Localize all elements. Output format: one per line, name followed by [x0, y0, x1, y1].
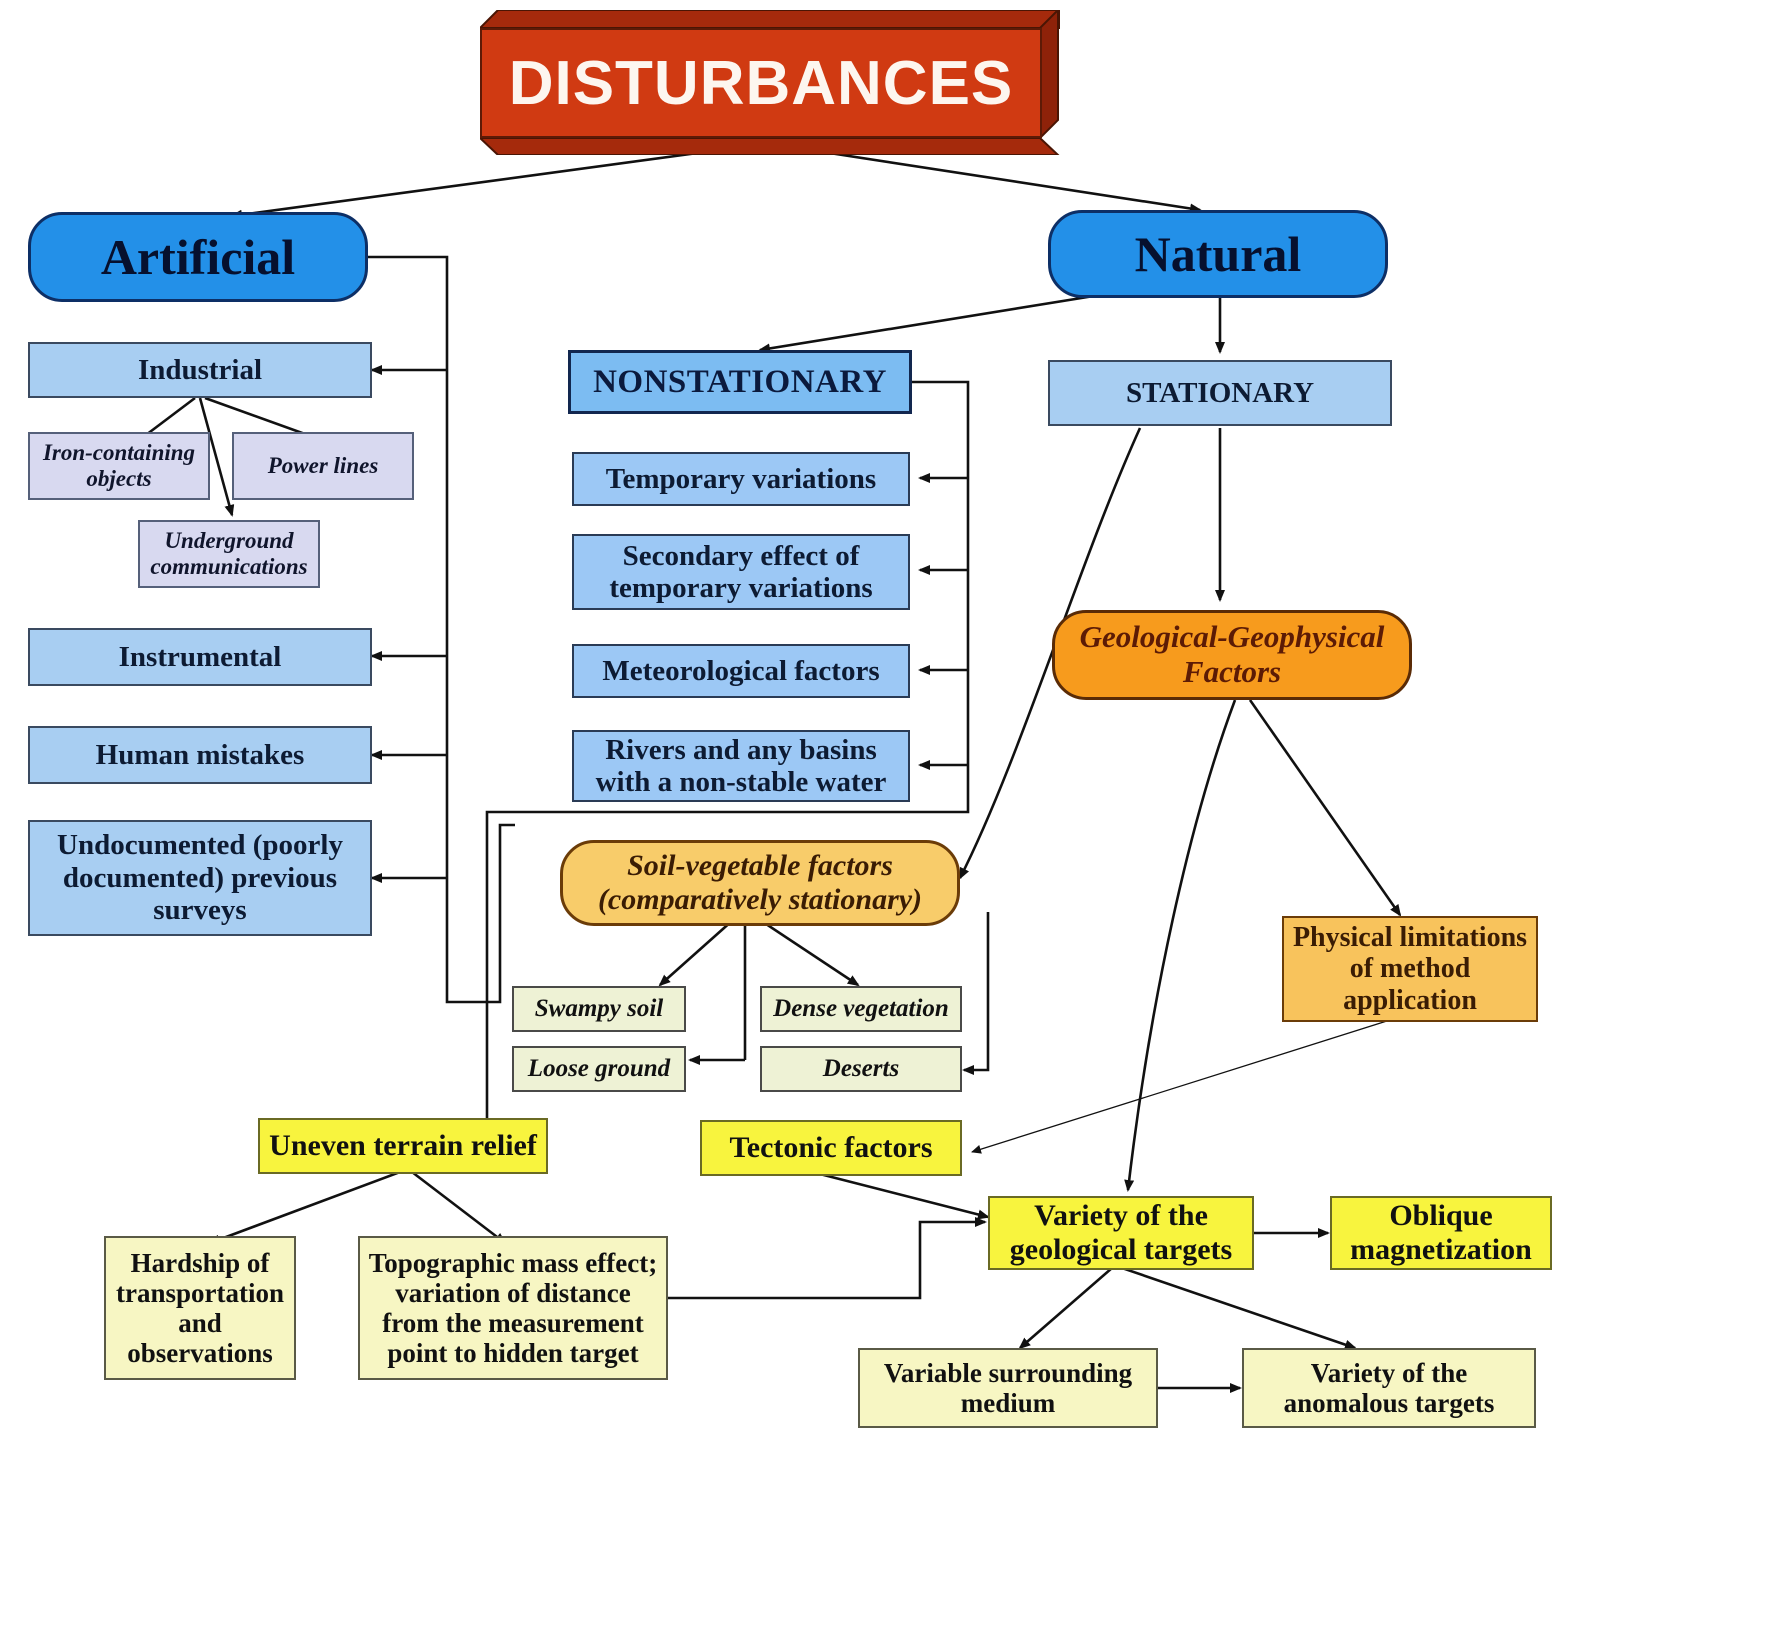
node-geological-geophysical-factors[interactable]: Geological-Geophysical Factors: [1052, 610, 1412, 700]
link-geological-targets: [1128, 700, 1235, 1190]
link-soil-deserts: [964, 912, 988, 1070]
node-topographic-mass-effect[interactable]: Topographic mass effect; variation of di…: [358, 1236, 668, 1380]
node-variety-anomalous-targets[interactable]: Variety of the anomalous targets: [1242, 1348, 1536, 1428]
link-targets-medium: [1020, 1268, 1112, 1348]
node-tectonic-factors[interactable]: Tectonic factors: [700, 1120, 962, 1176]
node-oblique-magnetization[interactable]: Oblique magnetization: [1330, 1196, 1552, 1270]
node-nonstationary[interactable]: NONSTATIONARY: [568, 350, 912, 414]
root-title-label: DISTURBANCES: [509, 48, 1014, 119]
root-title-box: DISTURBANCES: [480, 10, 1060, 140]
node-industrial[interactable]: Industrial: [28, 342, 372, 398]
diagram-canvas: DISTURBANCES Artificial Natural Industri…: [0, 0, 1783, 1632]
node-natural[interactable]: Natural: [1048, 210, 1388, 298]
node-uneven-terrain-relief[interactable]: Uneven terrain relief: [258, 1118, 548, 1174]
node-power-lines[interactable]: Power lines: [232, 432, 414, 500]
node-meteorological-factors[interactable]: Meteorological factors: [572, 644, 910, 698]
node-loose-ground[interactable]: Loose ground: [512, 1046, 686, 1092]
node-secondary-effect[interactable]: Secondary effect of temporary variations: [572, 534, 910, 610]
link-terrain-topographic: [412, 1172, 505, 1243]
node-iron-containing-objects[interactable]: Iron-containing objects: [28, 432, 210, 500]
node-variable-surrounding-medium[interactable]: Variable surrounding medium: [858, 1348, 1158, 1428]
node-artificial[interactable]: Artificial: [28, 212, 368, 302]
link-artificial-spine: [368, 257, 515, 1002]
node-deserts[interactable]: Deserts: [760, 1046, 962, 1092]
node-stationary[interactable]: STATIONARY: [1048, 360, 1392, 426]
link-topographic-targets: [668, 1222, 985, 1298]
node-swampy-soil[interactable]: Swampy soil: [512, 986, 686, 1032]
link-geological-physical: [1250, 700, 1400, 915]
link-tectonic-targets: [812, 1172, 988, 1217]
node-variety-geological-targets[interactable]: Variety of the geological targets: [988, 1196, 1254, 1270]
link-terrain-hardship: [210, 1172, 400, 1243]
node-human-mistakes[interactable]: Human mistakes: [28, 726, 372, 784]
node-instrumental[interactable]: Instrumental: [28, 628, 372, 686]
link-targets-anomalous: [1122, 1268, 1355, 1348]
link-root-natural: [810, 150, 1200, 210]
node-dense-vegetation[interactable]: Dense vegetation: [760, 986, 962, 1032]
node-rivers-basins[interactable]: Rivers and any basins with a non-stable …: [572, 730, 910, 802]
node-underground-communications[interactable]: Underground communications: [138, 520, 320, 588]
node-temporary-variations[interactable]: Temporary variations: [572, 452, 910, 506]
node-hardship-transportation[interactable]: Hardship of transportation and observati…: [104, 1236, 296, 1380]
link-physical-tectonic: [972, 1020, 1390, 1152]
node-undocumented-previous-surveys[interactable]: Undocumented (poorly documented) previou…: [28, 820, 372, 936]
link-root-artificial: [232, 150, 720, 216]
node-soil-vegetable-factors[interactable]: Soil-vegetable factors (comparatively st…: [560, 840, 960, 926]
link-natural-nonstationary: [760, 295, 1100, 350]
node-physical-limitations[interactable]: Physical limitations of method applicati…: [1282, 916, 1538, 1022]
